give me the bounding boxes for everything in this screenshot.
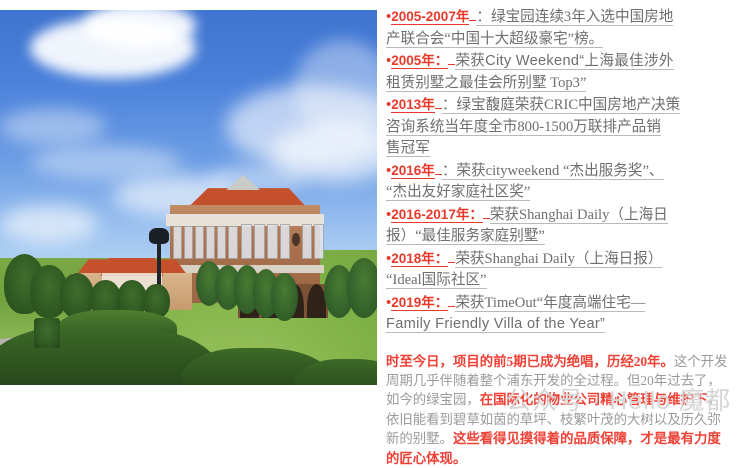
award-item-cont: 咨询系统当年度全市800-1500万联排产品销: [386, 117, 740, 139]
window-row: [173, 226, 237, 260]
award-item: •2013年：绿宝馥庭荣获CRIC中国房地产决策: [386, 94, 740, 117]
award-item-cont: 售冠军: [386, 138, 740, 160]
award-item-cont: Family Friendly Villa of the Year”: [386, 314, 740, 336]
award-date: 2005年：: [391, 53, 448, 69]
clubhouse-photo: [0, 10, 377, 385]
window: [254, 224, 265, 260]
award-item: •2016-2017年：荣获Shanghai Daily（上海日: [386, 204, 740, 227]
window: [217, 226, 226, 260]
award-item: •2019年：荣获TimeOut“年度高端住宅—: [386, 292, 740, 315]
window: [184, 226, 193, 260]
award-text: 绿宝馥庭荣获CRIC中国房地产决策: [456, 97, 680, 114]
award-text: 报）“最佳服务家庭别墅”: [386, 228, 545, 245]
award-text: 荣获cityweekend “杰出服务奖”、: [456, 163, 663, 180]
award-item-cont: “Ideal国际社区”: [386, 270, 740, 292]
window: [173, 226, 182, 260]
award-item: •2005年：荣获City Weekend“上海最佳涉外: [386, 50, 740, 73]
award-text: ：: [476, 9, 491, 26]
award-text: ：: [442, 97, 457, 114]
award-item: •2005-2007年：绿宝园连续3年入选中国房地: [386, 6, 740, 29]
award-item: •2016年：荣获cityweekend “杰出服务奖”、: [386, 160, 740, 183]
window-row: [241, 224, 290, 260]
award-date: 2018年：: [391, 251, 448, 267]
palm-tree: [271, 273, 297, 322]
award-text: ：: [442, 163, 457, 180]
award-item-cont: 报）“最佳服务家庭别墅”: [386, 226, 740, 248]
topiary: [34, 318, 60, 348]
street-lamp-icon: [149, 228, 169, 245]
awards-text-panel: •2005-2007年：绿宝园连续3年入选中国房地 产联合会“中国十大超级豪宅”…: [386, 6, 740, 411]
window-row: [302, 224, 325, 260]
window: [195, 226, 204, 260]
palm-tree: [347, 258, 377, 318]
watermark: 公众号 · Hello 魔都: [506, 381, 731, 417]
award-text: 荣获Shanghai Daily（上海日报）: [455, 251, 662, 268]
award-date: 2013年: [391, 97, 435, 113]
award-item-cont: 产联合会“中国十大超级豪宅”榜。: [386, 29, 740, 51]
cloud-icon: [0, 108, 106, 146]
award-item-cont: 租赁别墅之最佳会所别墅 Top3”: [386, 73, 740, 95]
award-text: 售冠军: [386, 140, 430, 157]
award-text: 咨询系统当年度全市800-1500万联排产品销: [386, 119, 661, 136]
award-text: Family Friendly Villa of the Year”: [386, 316, 605, 333]
award-text: “Ideal国际社区”: [386, 272, 487, 289]
cloud-icon: [0, 205, 98, 243]
award-date: 2005-2007年: [391, 9, 469, 25]
award-item: •2018年：荣获Shanghai Daily（上海日报）: [386, 248, 740, 271]
window: [314, 224, 324, 260]
award-text: 荣获Shanghai Daily（上海日: [490, 207, 668, 224]
award-text: 绿宝园连续3年入选中国房地: [491, 9, 673, 26]
award-date: 2016-2017年：: [391, 207, 483, 223]
award-date: 2016年: [391, 163, 435, 179]
window: [241, 224, 252, 260]
window: [228, 226, 237, 260]
award-text: “杰出友好家庭社区奖”: [386, 184, 530, 201]
window: [302, 224, 312, 260]
award-text: 荣获City Weekend“上海最佳涉外: [455, 53, 674, 70]
award-item-cont: “杰出友好家庭社区奖”: [386, 182, 740, 204]
award-text: 租赁别墅之最佳会所别墅 Top3”: [386, 75, 586, 92]
award-text: 产联合会“中国十大超级豪宅”榜。: [386, 31, 603, 48]
cloud-icon: [30, 145, 181, 179]
window: [280, 224, 291, 260]
closing-highlight-1: 时至今日，项目的前5期已成为绝唱，历经20年。: [386, 354, 674, 369]
window: [206, 226, 215, 260]
award-date: 2019年：: [391, 295, 448, 311]
award-text: 荣获TimeOut“年度高端住宅—: [455, 295, 645, 312]
window: [267, 224, 278, 260]
